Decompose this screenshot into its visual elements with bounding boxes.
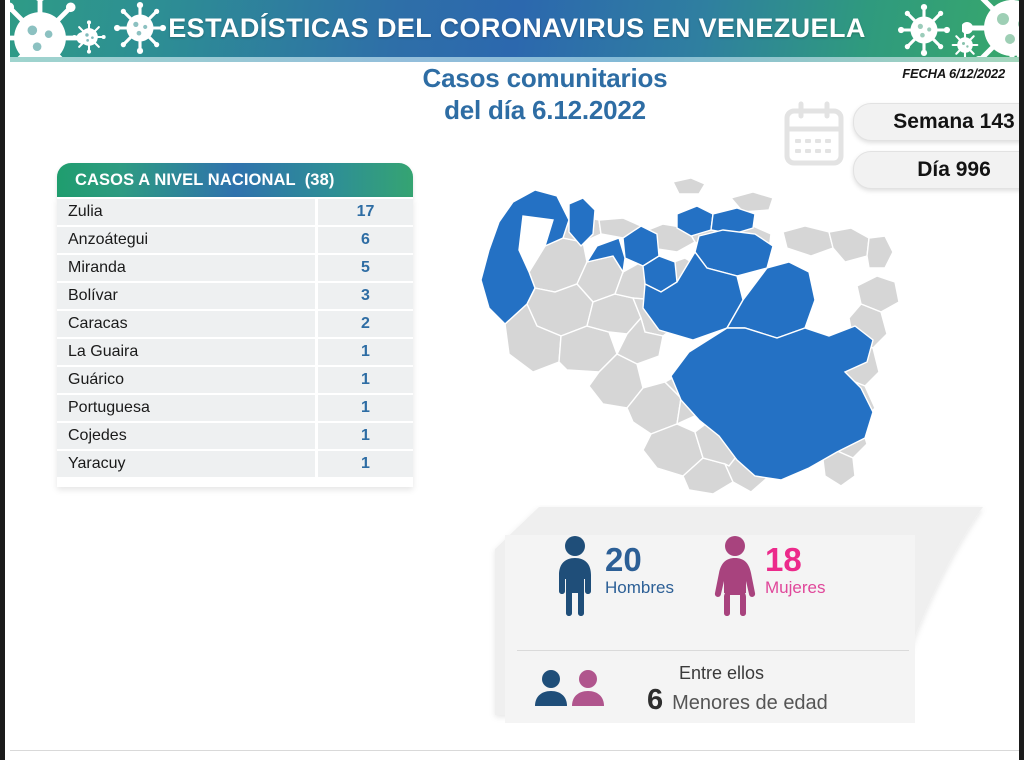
table-cell-cases: 1 [318,339,413,365]
map-state-inactive [867,236,893,268]
minors-prefix: Entre ellos [625,661,915,685]
fecha-label: FECHA 6/12/2022 [902,66,1005,81]
infographic-frame: ESTADÍSTICAS DEL CORONAVIRUS EN VENEZUEL… [0,0,1024,760]
table-header: CASOS A NIVEL NACIONAL (38) [57,163,413,197]
table-row: Portuguesa1 [57,395,413,421]
table-cell-state: Caracas [57,311,315,337]
table-header-count: (38) [305,171,335,190]
table-row: La Guaira1 [57,339,413,365]
table-cell-state: Miranda [57,255,315,281]
women-label: Mujeres [765,577,825,599]
minors-count: 6 [625,685,663,715]
table-cell-cases: 5 [318,255,413,281]
table-cell-state: Guárico [57,367,315,393]
page-title-line1: Casos comunitarios [423,63,668,93]
table-cell-state: Anzoátegui [57,227,315,253]
men-stat: 20 Hombres [553,535,674,617]
map-state-inactive [829,228,869,262]
table-cell-state: Bolívar [57,283,315,309]
table-cell-cases: 2 [318,311,413,337]
table-header-label: CASOS A NIVEL NACIONAL [75,171,296,190]
panel-content: 20 Hombres 18 [505,535,915,720]
male-bust-icon [535,670,567,706]
banner-title: ESTADÍSTICAS DEL CORONAVIRUS EN VENEZUEL… [10,0,1024,57]
table-row: Caracas2 [57,311,413,337]
minors-label: Menores de edad [672,690,828,716]
bottom-rule [10,750,1024,751]
venezuela-map-svg [437,176,937,496]
table-cell-state: Zulia [57,199,315,225]
table-cell-state: Cojedes [57,423,315,449]
women-count: 18 [765,543,825,577]
women-stat: 18 Mujeres [713,535,825,617]
table-row: Zulia17 [57,199,413,225]
page-title: Casos comunitarios del día 6.12.2022 [335,62,755,126]
men-label: Hombres [605,577,674,599]
venezuela-map [437,176,937,496]
calendar-icon [783,101,845,167]
map-state-inactive [673,178,705,194]
female-figure-icon [713,535,757,617]
map-state-carabobo [677,206,713,236]
page-title-line2: del día 6.12.2022 [335,94,755,126]
national-cases-table: CASOS A NIVEL NACIONAL (38) Zulia17Anzoá… [57,163,413,487]
female-bust-icon [572,670,604,706]
map-state-inactive [783,226,833,256]
map-state-lacaracas [711,208,755,234]
table-row: Cojedes1 [57,423,413,449]
table-cell-state: Yaracuy [57,451,315,477]
table-row: Yaracuy1 [57,451,413,477]
table-cell-cases: 1 [318,451,413,477]
minors-icons [533,667,611,707]
table-body: Zulia17Anzoátegui6Miranda5Bolívar3Caraca… [57,197,413,487]
table-cell-cases: 1 [318,423,413,449]
men-count: 20 [605,543,674,577]
gender-row: 20 Hombres 18 [505,535,915,645]
header-banner: ESTADÍSTICAS DEL CORONAVIRUS EN VENEZUEL… [10,0,1024,57]
panel-divider [517,650,909,651]
table-cell-cases: 1 [318,395,413,421]
table-cell-cases: 6 [318,227,413,253]
table-cell-state: Portuguesa [57,395,315,421]
table-row: Anzoátegui6 [57,227,413,253]
table-row: Miranda5 [57,255,413,281]
table-cell-state: La Guaira [57,339,315,365]
table-cell-cases: 1 [318,367,413,393]
male-figure-icon [553,535,597,617]
week-badge[interactable]: Semana 143 [853,103,1024,141]
table-cell-cases: 17 [318,199,413,225]
minors-text: Entre ellos 6 Menores de edad [625,661,915,716]
demographics-panel: 20 Hombres 18 [483,505,1003,737]
table-row: Guárico1 [57,367,413,393]
table-row: Bolívar3 [57,283,413,309]
table-cell-cases: 3 [318,283,413,309]
minors-row: Entre ellos 6 Menores de edad [505,661,915,721]
